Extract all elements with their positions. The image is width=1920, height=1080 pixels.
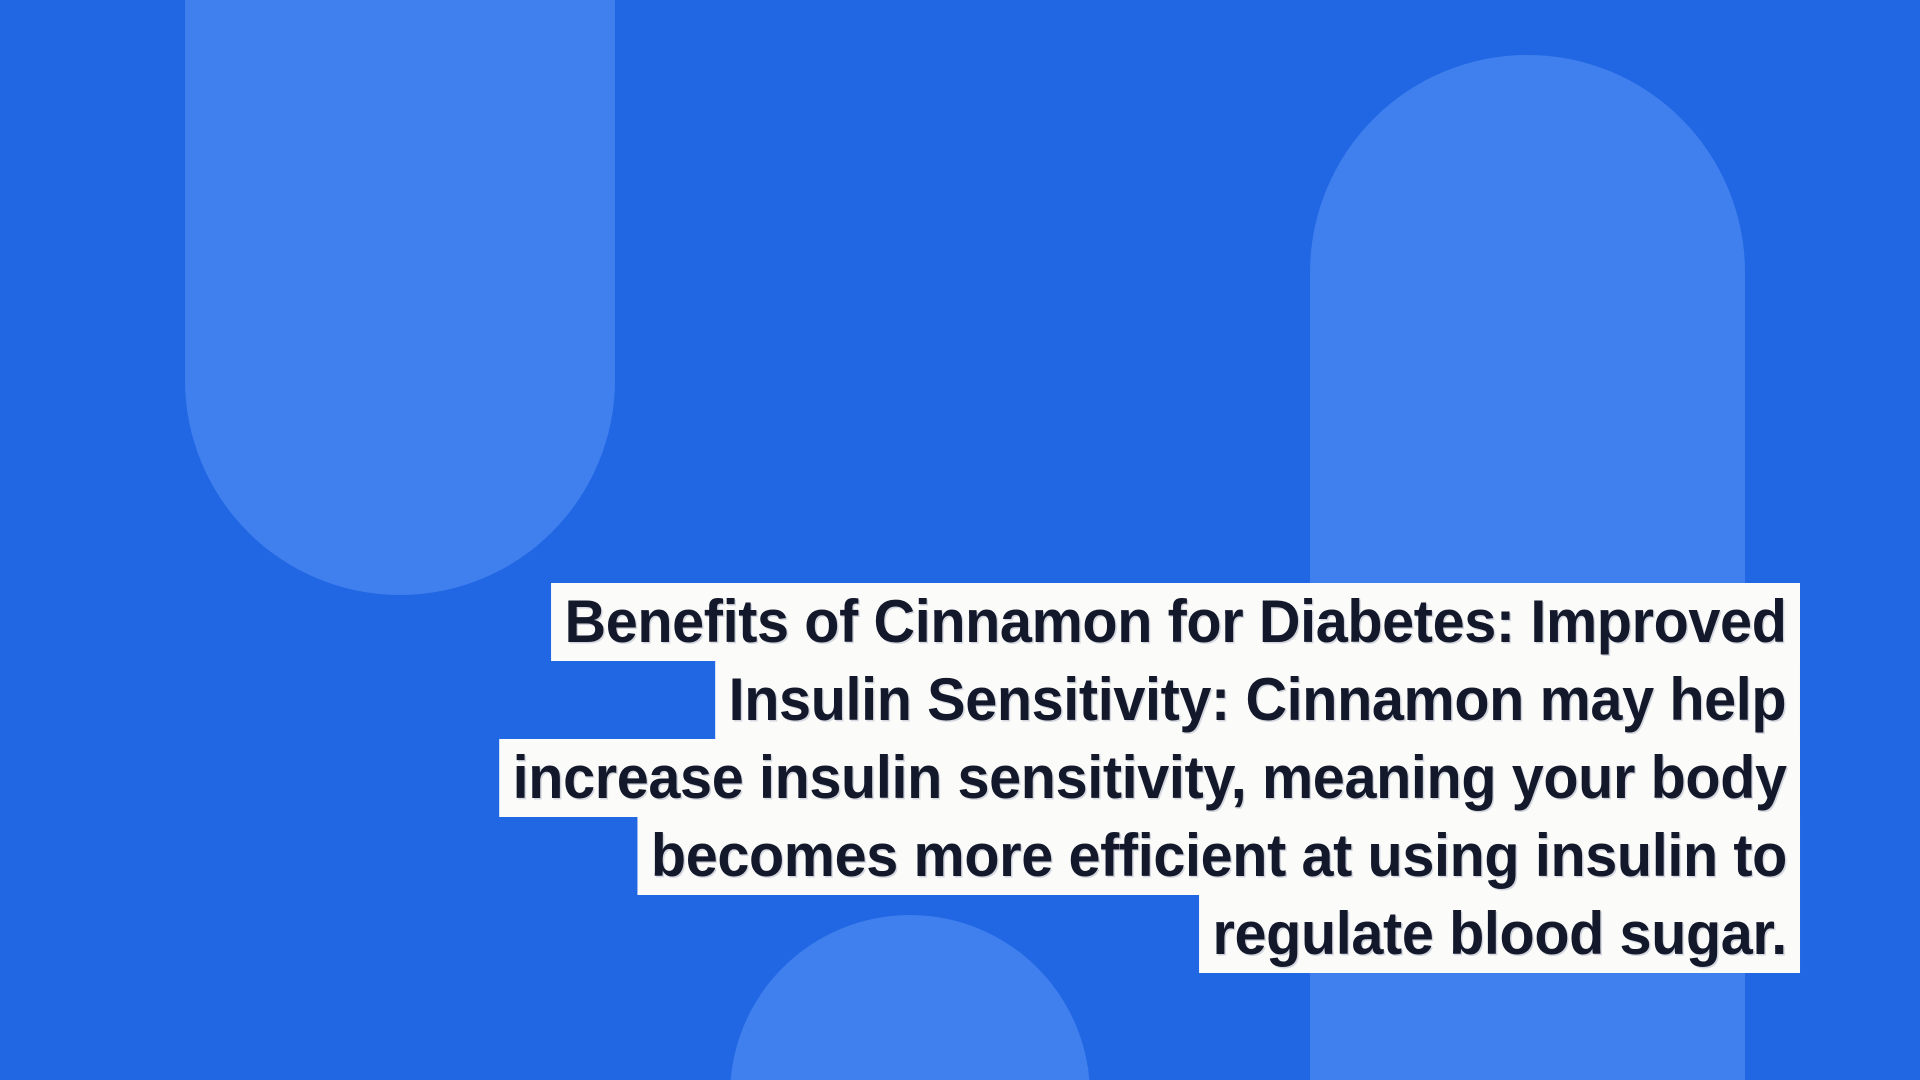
headline-line-3: increase insulin sensitivity, meaning yo… — [499, 739, 1800, 817]
headline-line-1: Benefits of Cinnamon for Diabetes: Impro… — [551, 583, 1800, 661]
headline-line-2: Insulin Sensitivity: Cinnamon may help — [716, 661, 1800, 739]
slide-canvas: Benefits of Cinnamon for Diabetes: Impro… — [0, 0, 1920, 1080]
headline-line-5: regulate blood sugar. — [1199, 895, 1800, 973]
headline-line-4: becomes more efficient at using insulin … — [637, 817, 1800, 895]
headline-line-wrap: Insulin Sensitivity: Cinnamon may help — [0, 661, 1800, 739]
headline-text-block: Benefits of Cinnamon for Diabetes: Impro… — [0, 583, 1800, 973]
headline-line-wrap: Benefits of Cinnamon for Diabetes: Impro… — [0, 583, 1800, 661]
headline-line-wrap: increase insulin sensitivity, meaning yo… — [0, 739, 1800, 817]
headline-line-wrap: regulate blood sugar. — [0, 895, 1800, 973]
decorative-left-capsule-shape — [185, 0, 615, 595]
headline-line-wrap: becomes more efficient at using insulin … — [0, 817, 1800, 895]
